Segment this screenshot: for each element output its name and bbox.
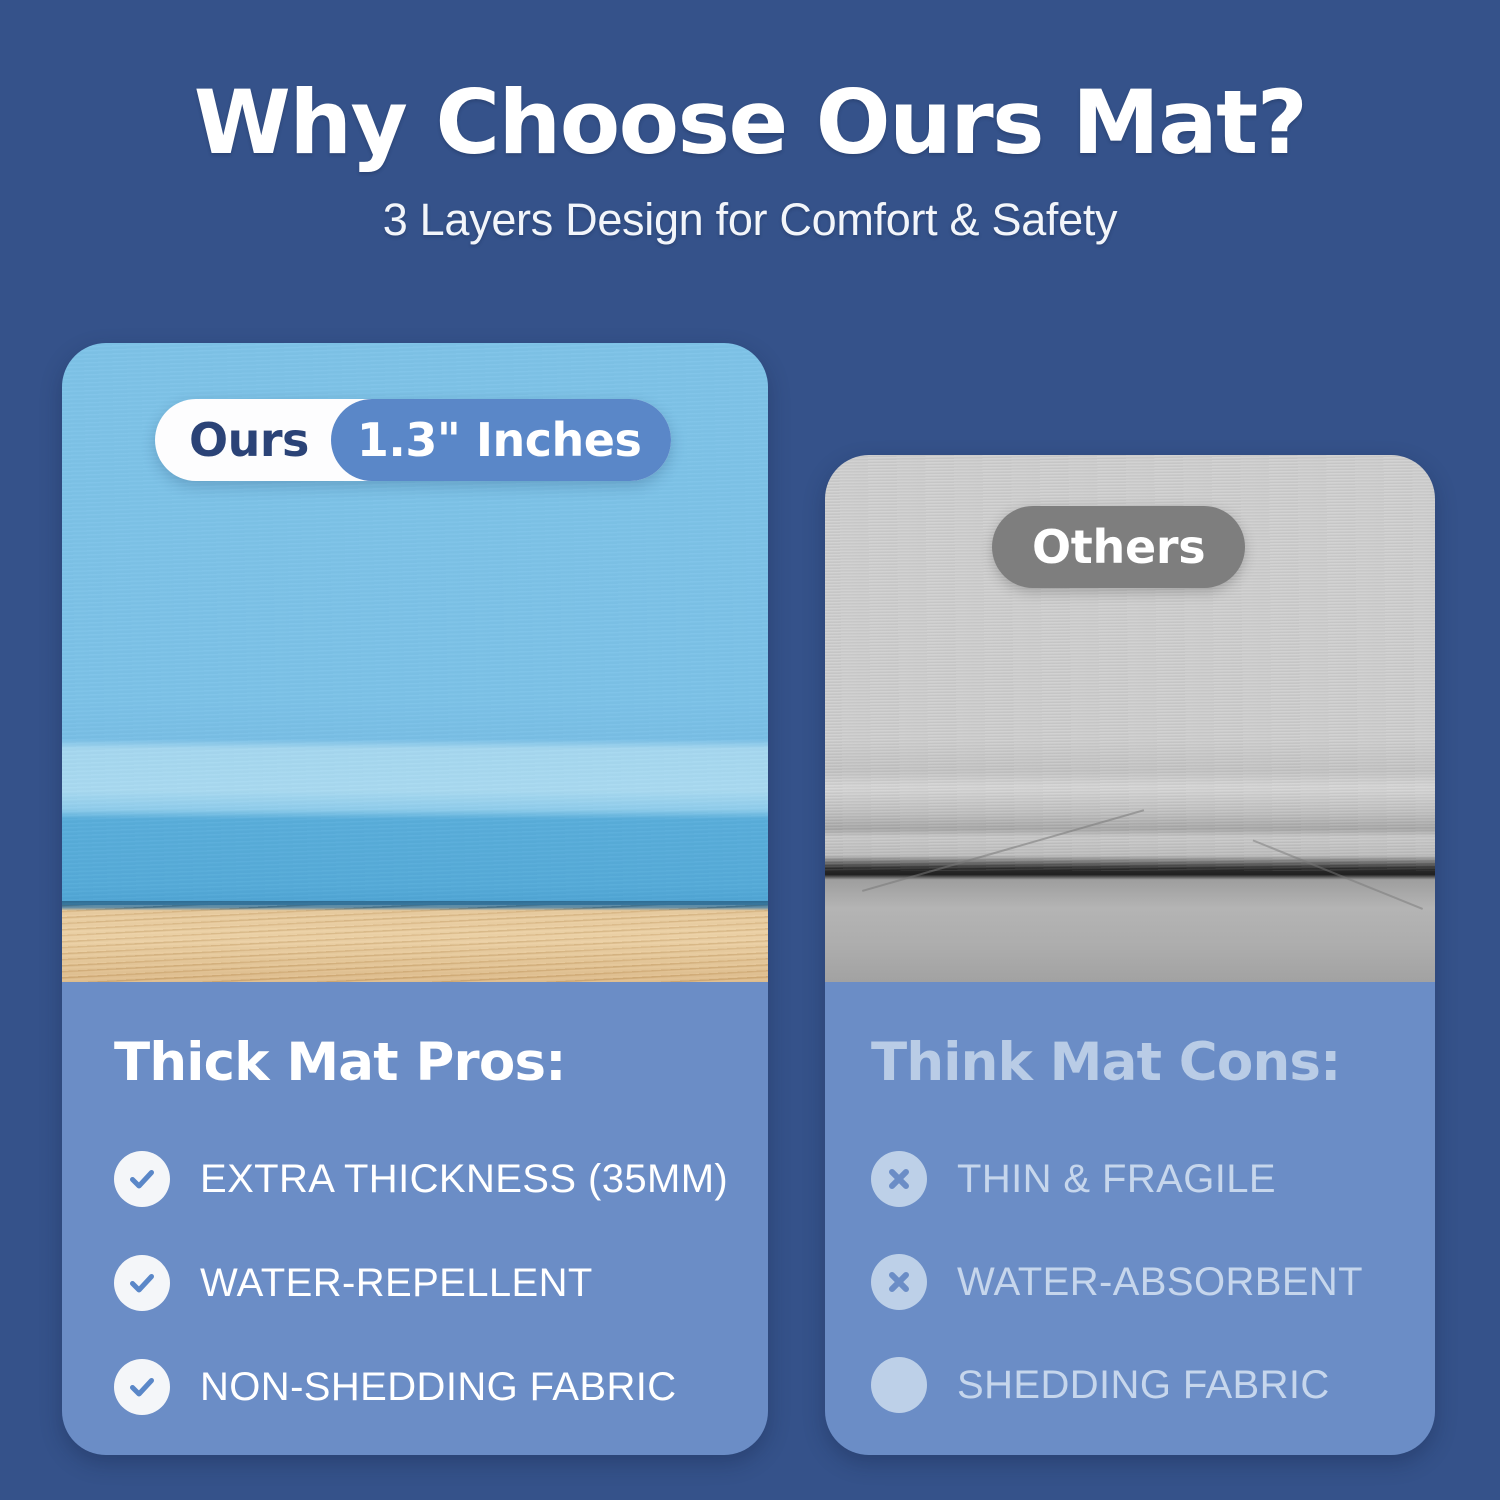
others-badge-label: Others [1032,520,1205,574]
wood-floor-texture [62,905,768,982]
ours-comparison-card: Thick Mat Pros: EXTRA THICKNESS (35MM) [62,343,768,1455]
feature-label: SHEDDING FABRIC [957,1363,1330,1408]
list-item: THIN & FRAGILE [871,1151,1435,1207]
infographic-root: Why Choose Ours Mat? 3 Layers Design for… [0,0,1500,1500]
list-item: SHEDDING FABRIC [871,1357,1435,1413]
list-item: WATER-ABSORBENT [871,1254,1435,1310]
feature-label: NON-SHEDDING FABRIC [200,1365,677,1410]
header: Why Choose Ours Mat? 3 Layers Design for… [0,0,1500,246]
cross-icon [871,1254,927,1310]
ours-feature-list: EXTRA THICKNESS (35MM) WATER-REPELLENT [114,1151,768,1415]
ours-info-panel: Thick Mat Pros: EXTRA THICKNESS (35MM) [62,982,768,1455]
others-comparison-card: Think Mat Cons: THIN & FRAGILE [825,455,1435,1455]
others-badge: Others [992,506,1245,588]
ours-thickness-badge: Ours 1.3" Inches [155,399,671,481]
page-title: Why Choose Ours Mat? [0,0,1500,168]
cross-icon [871,1151,927,1207]
check-icon [114,1151,170,1207]
ours-badge-label: Ours [189,413,331,467]
page-subtitle: 3 Layers Design for Comfort & Safety [0,168,1500,246]
list-item: WATER-REPELLENT [114,1255,768,1311]
list-item: NON-SHEDDING FABRIC [114,1359,768,1415]
feature-label: WATER-REPELLENT [200,1261,593,1306]
check-icon [114,1359,170,1415]
blank-circle-icon [871,1357,927,1413]
feature-label: THIN & FRAGILE [957,1157,1276,1202]
feature-label: WATER-ABSORBENT [957,1260,1363,1305]
check-icon [114,1255,170,1311]
ours-badge-value: 1.3" Inches [331,399,671,481]
others-panel-heading: Think Mat Cons: [871,1032,1435,1093]
ours-panel-heading: Thick Mat Pros: [114,1032,768,1093]
list-item: EXTRA THICKNESS (35MM) [114,1151,768,1207]
others-feature-list: THIN & FRAGILE WATER-ABSORBENT SHEDDING … [871,1151,1435,1413]
feature-label: EXTRA THICKNESS (35MM) [200,1157,728,1202]
others-info-panel: Think Mat Cons: THIN & FRAGILE [825,982,1435,1455]
